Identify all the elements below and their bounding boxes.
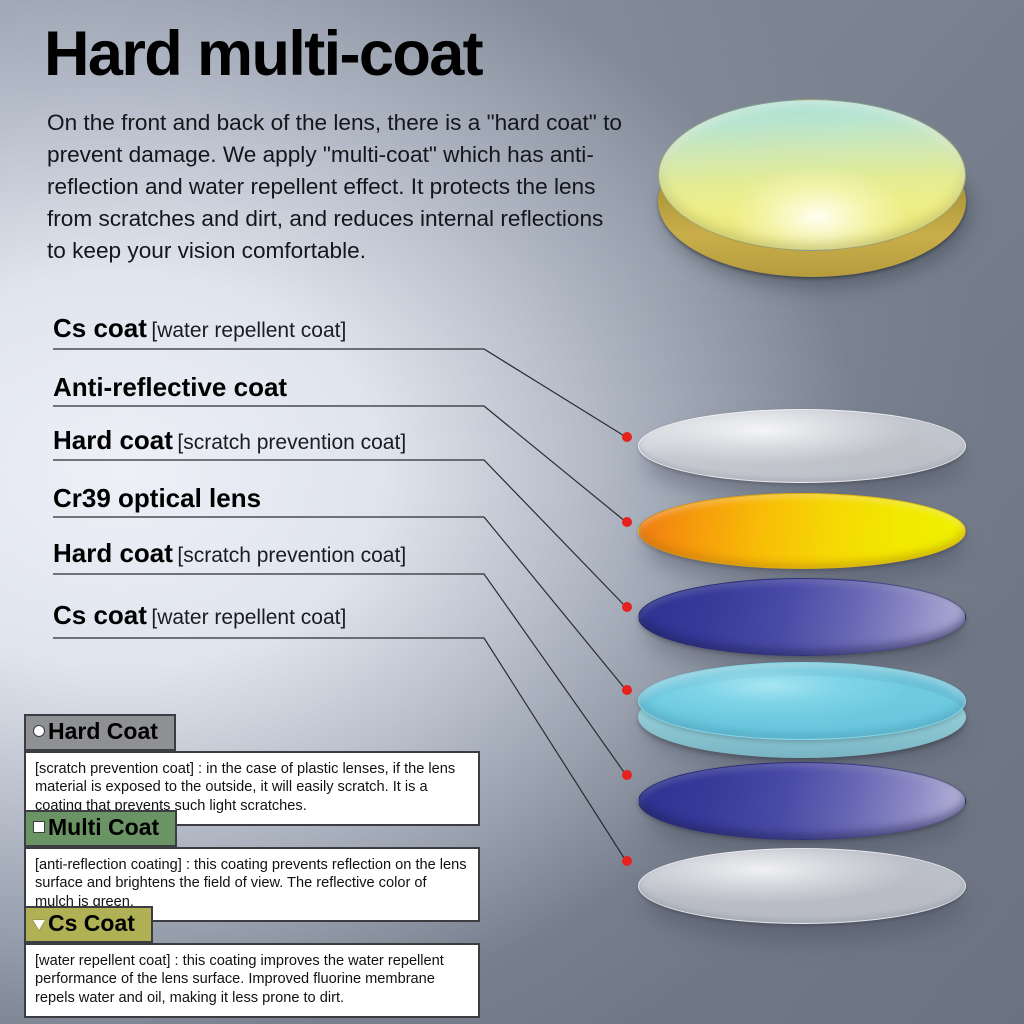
info-box-multi-coat-title: Multi Coat (48, 814, 159, 840)
disc-0-cs-coat (638, 409, 966, 483)
square-marker-icon (33, 821, 45, 833)
info-box-cs-coat-text: [water repellent coat] : this coating im… (24, 943, 480, 1018)
disc-4-face (638, 762, 966, 840)
info-box-hard-coat-title: Hard Coat (48, 718, 158, 744)
disc-1-face (638, 493, 966, 569)
info-box-multi-coat-header: Multi Coat (24, 810, 177, 847)
disc-2-hard-coat (638, 578, 966, 656)
info-box-cs-coat-title: Cs Coat (48, 910, 135, 936)
info-box-hard-coat: Hard Coat [scratch prevention coat] : in… (24, 714, 480, 826)
disc-3-cr39-optical-lens (638, 662, 966, 740)
circle-marker-icon (33, 725, 45, 737)
info-box-cs-coat: Cs Coat [water repellent coat] : this co… (24, 906, 480, 1018)
disc-3-face (638, 662, 966, 740)
disc-0-face (638, 409, 966, 483)
infographic-canvas: Hard multi-coat On the front and back of… (0, 0, 1024, 1024)
disc-4-hard-coat (638, 762, 966, 840)
disc-5-face (638, 848, 966, 924)
triangle-marker-icon (33, 920, 45, 930)
info-box-multi-coat: Multi Coat [anti-reflection coating] : t… (24, 810, 480, 922)
info-box-hard-coat-header: Hard Coat (24, 714, 176, 751)
info-box-cs-coat-header: Cs Coat (24, 906, 153, 943)
disc-2-face (638, 578, 966, 656)
disc-1-anti-reflective-coat (638, 493, 966, 569)
disc-5-cs-coat (638, 848, 966, 924)
